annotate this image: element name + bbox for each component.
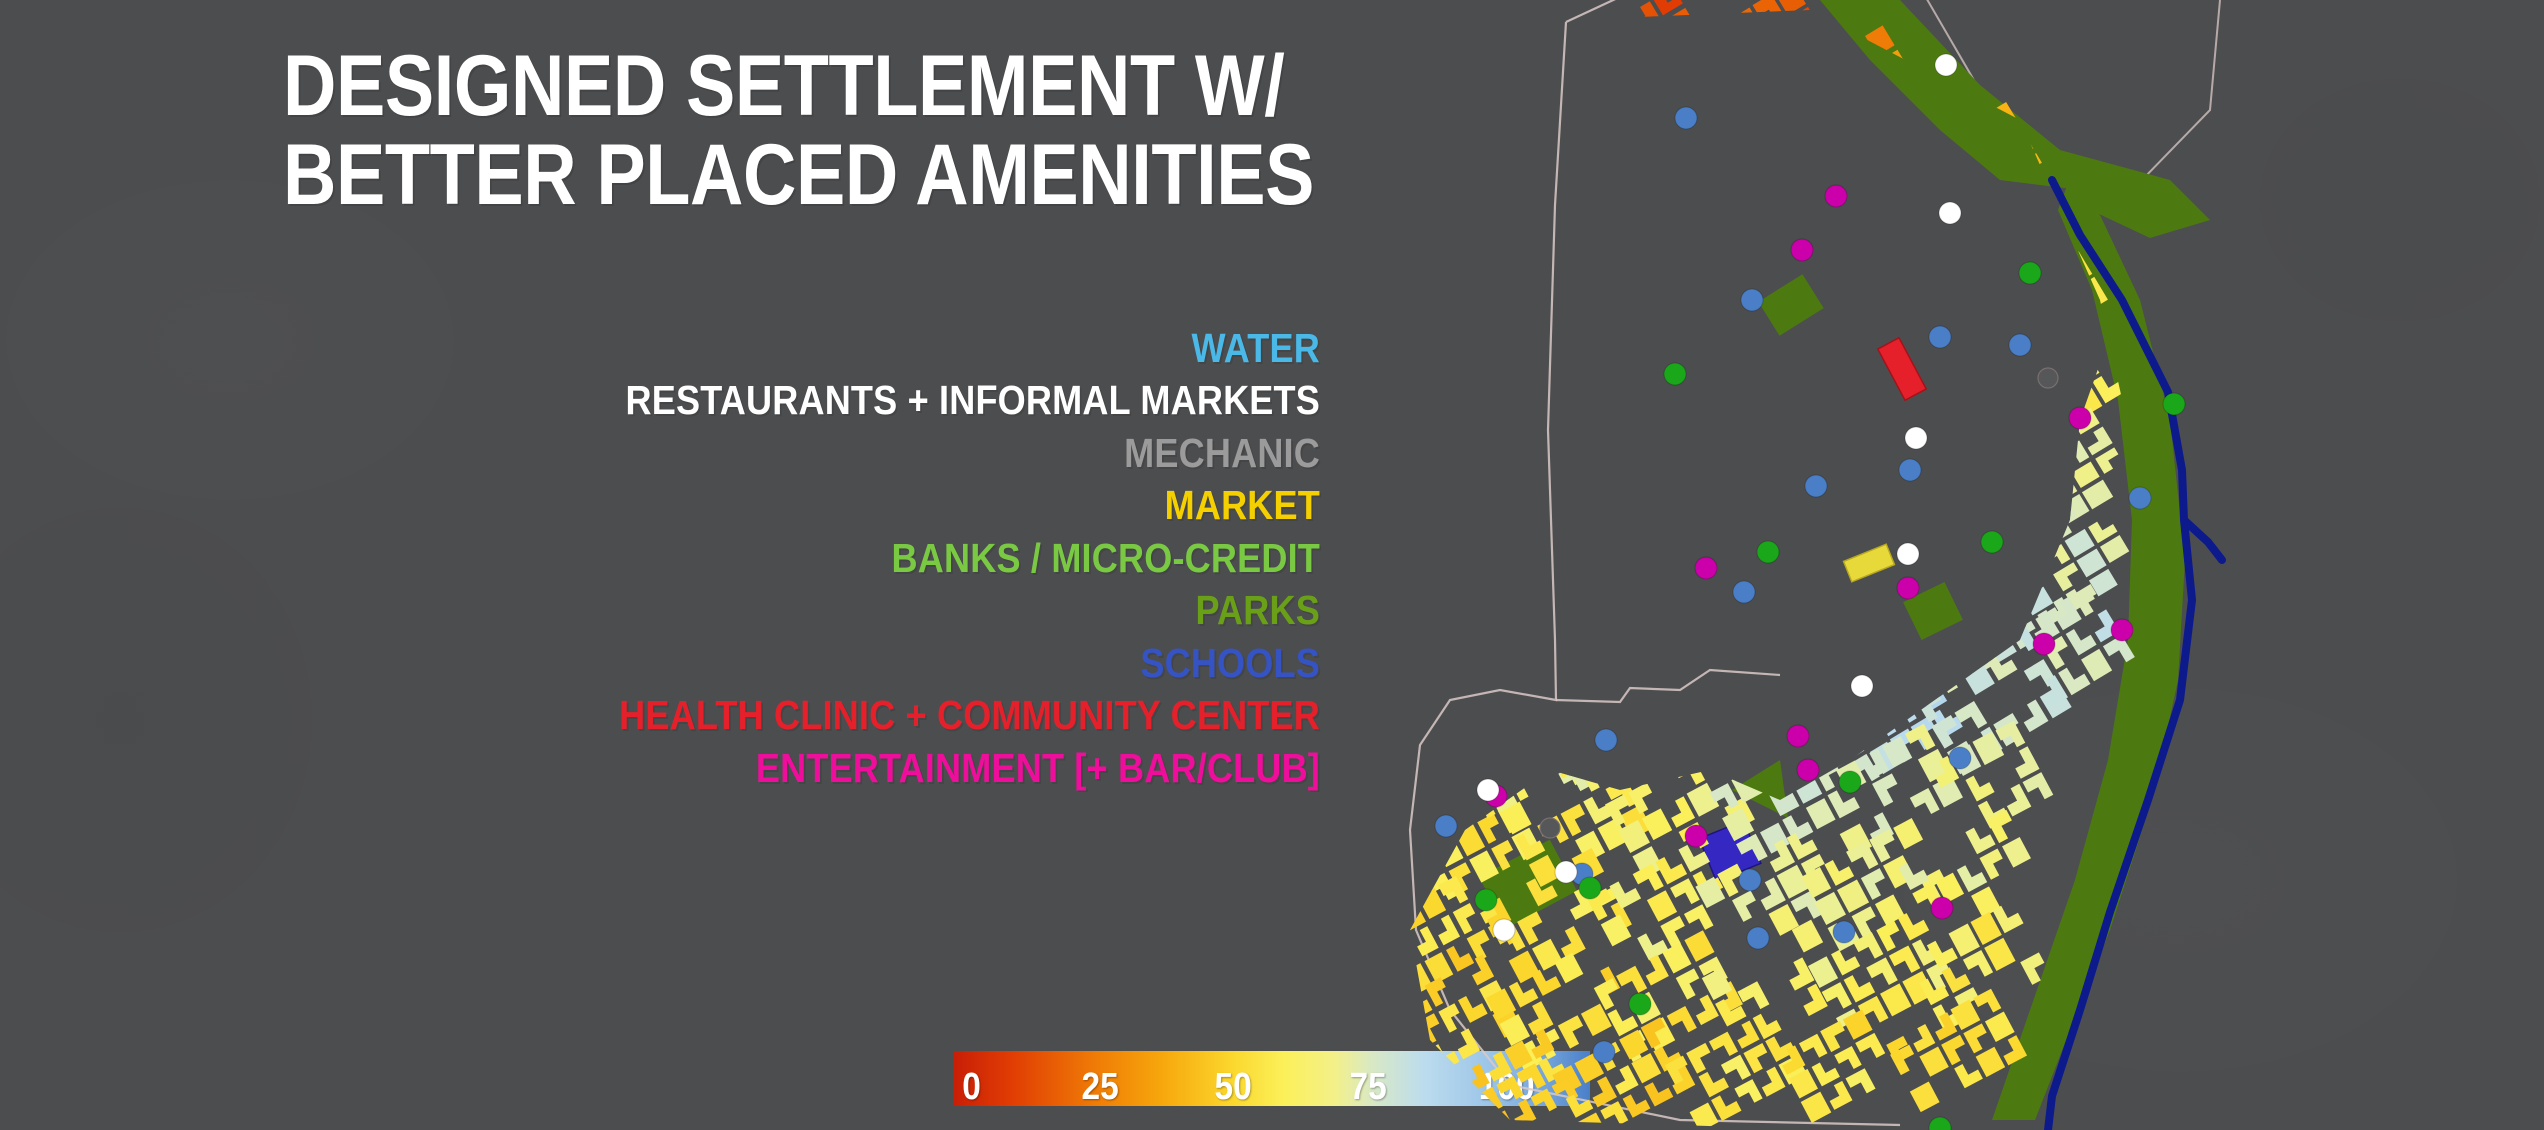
building-footprint bbox=[1674, 643, 1706, 677]
building-block bbox=[1439, 696, 1581, 824]
building-footprint bbox=[1592, 753, 1623, 785]
building-footprint bbox=[1876, 921, 1905, 952]
building-footprint bbox=[1604, 15, 1636, 45]
building-footprint bbox=[1676, 968, 1706, 999]
building-footprint bbox=[1951, 576, 1981, 604]
building-footprint bbox=[1709, 1032, 1738, 1062]
building-footprint bbox=[1746, 159, 1775, 187]
building-footprint bbox=[1723, 172, 1753, 201]
building-footprint bbox=[1839, 210, 1869, 238]
building-footprint bbox=[1746, 338, 1775, 367]
amenity-marker[interactable] bbox=[1579, 877, 1601, 899]
building-footprint bbox=[1981, 402, 2010, 430]
building-footprint bbox=[1588, 252, 1616, 279]
building-footprint bbox=[1872, 773, 1904, 806]
amenity-marker[interactable] bbox=[1733, 581, 1755, 603]
building-footprint bbox=[1806, 798, 1836, 829]
building-footprint bbox=[1611, 702, 1641, 734]
building-footprint bbox=[1539, 515, 1568, 543]
building-footprint bbox=[1553, 699, 1583, 731]
building-footprint bbox=[1653, 41, 1683, 69]
amenity-marker[interactable] bbox=[1787, 725, 1809, 747]
building-footprint bbox=[1863, 230, 1890, 256]
building-footprint bbox=[2017, 699, 2049, 732]
legend-item-market[interactable]: MARKET bbox=[422, 479, 1320, 531]
amenity-marker[interactable] bbox=[1493, 919, 1515, 941]
building-footprint bbox=[1621, 541, 1651, 569]
building-footprint bbox=[1576, 262, 1608, 292]
building-footprint bbox=[1646, 317, 1674, 345]
amenity-marker[interactable] bbox=[1695, 557, 1717, 579]
building-footprint bbox=[2005, 387, 2036, 416]
building-footprint bbox=[1648, 416, 1677, 444]
amenity-marker[interactable] bbox=[1805, 475, 1827, 497]
building-footprint bbox=[1734, 254, 1762, 281]
building-footprint bbox=[1570, 65, 1599, 92]
building-footprint bbox=[1828, 626, 1855, 652]
building-footprint bbox=[1625, 289, 1655, 317]
building-footprint bbox=[1389, 937, 1418, 968]
building-footprint bbox=[1880, 405, 1907, 432]
building-footprint bbox=[1799, 1034, 1828, 1063]
building-footprint bbox=[1642, 808, 1672, 840]
building-footprint bbox=[1647, 477, 1677, 506]
building-footprint bbox=[1598, 692, 1627, 719]
building-footprint bbox=[1874, 249, 1902, 277]
building-footprint bbox=[1735, 319, 1762, 346]
building-footprint bbox=[1454, 1098, 1481, 1126]
building-footprint bbox=[1679, 617, 1707, 644]
amenity-marker[interactable] bbox=[1899, 459, 1921, 481]
amenity-marker[interactable] bbox=[1593, 1041, 1615, 1063]
building-footprint bbox=[1783, 957, 1815, 990]
building-block bbox=[1779, 107, 1941, 253]
amenity-marker[interactable] bbox=[1931, 897, 1953, 919]
building-footprint bbox=[1792, 630, 1824, 664]
building-footprint bbox=[1381, 998, 1411, 1031]
building-footprint bbox=[1641, 22, 1671, 50]
building-footprint bbox=[1612, 527, 1642, 556]
building-footprint bbox=[1946, 541, 1978, 571]
building-footprint bbox=[1758, 73, 1785, 99]
building-footprint bbox=[1972, 268, 2006, 303]
building-footprint bbox=[2030, 518, 2061, 547]
building-footprint bbox=[1875, 703, 1906, 736]
amenity-marker[interactable] bbox=[1825, 185, 1847, 207]
building-footprint bbox=[1700, 640, 1728, 667]
amenity-marker[interactable] bbox=[1981, 531, 2003, 553]
building-footprint bbox=[2095, 447, 2123, 474]
building-footprint bbox=[1796, 670, 1824, 697]
building-footprint bbox=[1726, 713, 1756, 745]
building-block bbox=[2007, 495, 2141, 624]
amenity-marker[interactable] bbox=[1929, 1117, 1951, 1130]
building-footprint bbox=[1990, 360, 2025, 396]
building-footprint bbox=[1596, 610, 1627, 640]
building-footprint bbox=[1934, 293, 1967, 327]
amenity-marker[interactable] bbox=[1897, 577, 1919, 599]
building-footprint bbox=[1606, 343, 1638, 373]
building-footprint bbox=[1600, 303, 1632, 333]
building-footprint bbox=[1674, 582, 1702, 609]
building-block bbox=[1614, 592, 1765, 727]
building-footprint bbox=[2066, 623, 2097, 655]
building-block bbox=[1627, 364, 1798, 516]
building-block bbox=[1638, 458, 1810, 610]
amenity-marker[interactable] bbox=[1475, 889, 1497, 911]
building-footprint bbox=[1619, 206, 1646, 233]
amenity-marker[interactable] bbox=[1905, 427, 1927, 449]
building-footprint bbox=[1652, 274, 1682, 303]
building-footprint bbox=[1859, 580, 1885, 606]
building-footprint bbox=[1550, 168, 1579, 196]
building-footprint bbox=[1630, 225, 1659, 254]
building-footprint bbox=[1807, 515, 1836, 543]
building-footprint bbox=[1985, 1011, 2015, 1041]
building-footprint bbox=[1826, 411, 1853, 437]
legend-item-schools[interactable]: SCHOOLS bbox=[422, 637, 1320, 689]
building-footprint bbox=[1928, 140, 1957, 171]
building-footprint bbox=[1627, 430, 1653, 456]
building-footprint bbox=[1723, 119, 1752, 147]
amenity-marker[interactable] bbox=[2111, 619, 2133, 641]
building-footprint bbox=[1632, 645, 1661, 673]
building-footprint bbox=[1595, 434, 1626, 464]
building-footprint bbox=[2030, 524, 2058, 551]
building-footprint bbox=[1608, 658, 1638, 687]
building-footprint bbox=[1640, 254, 1670, 283]
building-footprint bbox=[1663, 489, 1689, 515]
amenity-marker[interactable] bbox=[2069, 407, 2091, 429]
amenity-marker[interactable] bbox=[1949, 747, 1971, 769]
building-footprint bbox=[1770, 643, 1800, 674]
amenity-legend: WATER RESTAURANTS + INFORMAL MARKETS MEC… bbox=[300, 322, 1320, 794]
building-footprint bbox=[1638, 522, 1667, 550]
building-footprint bbox=[1666, 180, 1695, 208]
building-footprint bbox=[1410, 1051, 1438, 1081]
building-footprint bbox=[1686, 1043, 1716, 1074]
building-footprint bbox=[1411, 926, 1439, 956]
amenity-marker[interactable] bbox=[1540, 818, 1560, 838]
building-footprint bbox=[1762, 58, 1795, 92]
legend-item-parks[interactable]: PARKS bbox=[422, 584, 1320, 636]
building-footprint bbox=[2011, 567, 2042, 596]
building-footprint bbox=[1477, 814, 1505, 844]
building-footprint bbox=[1609, 238, 1638, 266]
building-footprint bbox=[1544, 737, 1575, 770]
building-footprint bbox=[1597, 676, 1627, 708]
building-footprint bbox=[1921, 465, 1950, 493]
amenity-marker[interactable] bbox=[1747, 927, 1769, 949]
building-footprint bbox=[1530, 1088, 1557, 1116]
building-block bbox=[1504, 247, 1668, 397]
building-footprint bbox=[1757, 404, 1786, 432]
building-footprint bbox=[1795, 619, 1822, 645]
amenity-marker[interactable] bbox=[1897, 543, 1919, 565]
amenity-marker[interactable] bbox=[1757, 541, 1779, 563]
building-footprint bbox=[1801, 414, 1827, 440]
building-footprint bbox=[1619, 1030, 1648, 1060]
building-footprint bbox=[1979, 849, 2009, 880]
building-footprint bbox=[1573, 570, 1602, 598]
building-footprint bbox=[1910, 788, 1940, 819]
building-footprint bbox=[1820, 535, 1847, 561]
amenity-marker[interactable] bbox=[1741, 289, 1763, 311]
amenity-marker[interactable] bbox=[2019, 262, 2041, 284]
building-footprint bbox=[1724, 397, 1753, 425]
building-footprint bbox=[1927, 229, 1958, 261]
building-footprint bbox=[1496, 1076, 1523, 1104]
building-footprint bbox=[1698, 97, 1730, 131]
amenity-marker[interactable] bbox=[2038, 368, 2058, 388]
building-footprint bbox=[1974, 615, 2005, 644]
colorbar-tick-0: 0 bbox=[962, 1066, 981, 1109]
amenity-marker[interactable] bbox=[2009, 334, 2031, 356]
building-footprint bbox=[1432, 915, 1460, 946]
building-footprint bbox=[1697, 631, 1728, 664]
building-footprint bbox=[1721, 627, 1749, 655]
building-footprint bbox=[2002, 837, 2031, 868]
building-footprint bbox=[1720, 232, 1751, 262]
building-footprint bbox=[1815, 617, 1847, 651]
building-footprint bbox=[1662, 562, 1690, 589]
building-footprint bbox=[1446, 941, 1474, 972]
amenity-marker[interactable] bbox=[2129, 487, 2151, 509]
amenity-marker[interactable] bbox=[1664, 363, 1686, 385]
building-footprint bbox=[2043, 544, 2071, 570]
building-footprint bbox=[1811, 89, 1844, 123]
building-block bbox=[1905, 900, 2051, 1031]
building-footprint bbox=[1606, 71, 1635, 98]
building-footprint bbox=[1527, 129, 1554, 156]
building-footprint bbox=[1593, 50, 1624, 79]
building-footprint bbox=[1803, 204, 1833, 233]
building-footprint bbox=[1834, 1046, 1861, 1074]
building-footprint bbox=[1380, 910, 1404, 941]
building-footprint bbox=[1691, 391, 1718, 417]
building-footprint bbox=[1703, 410, 1731, 437]
building-footprint bbox=[1769, 145, 1799, 174]
amenity-marker[interactable] bbox=[1797, 759, 1819, 781]
building-footprint bbox=[1746, 654, 1777, 687]
building-footprint bbox=[1732, 1020, 1760, 1048]
building-footprint bbox=[1588, 541, 1618, 570]
building-footprint bbox=[1988, 582, 2017, 609]
amenity-marker[interactable] bbox=[1555, 861, 1577, 883]
building-footprint bbox=[1904, 242, 1936, 275]
building-footprint bbox=[1816, 444, 1842, 469]
building-footprint bbox=[1591, 91, 1618, 118]
building-footprint bbox=[1993, 421, 2024, 450]
building-footprint bbox=[1538, 722, 1567, 753]
building-footprint bbox=[1732, 675, 1761, 706]
building-footprint bbox=[1453, 903, 1482, 934]
amenity-marker[interactable] bbox=[1435, 815, 1457, 837]
building-footprint bbox=[1872, 477, 1900, 504]
building-footprint bbox=[2005, 385, 2040, 421]
building-footprint bbox=[1691, 673, 1718, 699]
building-footprint bbox=[1584, 197, 1613, 226]
building-footprint bbox=[1704, 58, 1736, 92]
building-footprint bbox=[2076, 343, 2111, 379]
building-footprint bbox=[1581, 31, 1611, 59]
building-footprint bbox=[1633, 64, 1662, 92]
building-block bbox=[1800, 817, 1951, 951]
building-footprint bbox=[1709, 213, 1738, 241]
building-footprint bbox=[1690, 1102, 1719, 1130]
building-block bbox=[1507, 151, 1680, 306]
legend-item-banks[interactable]: BANKS / MICRO-CREDIT bbox=[422, 532, 1320, 584]
building-footprint bbox=[1637, 310, 1667, 339]
building-footprint bbox=[1644, 665, 1671, 691]
building-footprint bbox=[1587, 485, 1618, 514]
legend-item-water[interactable]: WATER bbox=[422, 322, 1320, 374]
building-footprint bbox=[1970, 201, 2004, 236]
building-footprint bbox=[1747, 33, 1779, 66]
building-footprint bbox=[1999, 602, 2028, 629]
building-footprint bbox=[1629, 56, 1659, 84]
colorbar-tick-50: 50 bbox=[1215, 1066, 1252, 1109]
amenity-marker[interactable] bbox=[1739, 869, 1761, 891]
building-footprint bbox=[1969, 381, 2000, 410]
building-footprint bbox=[1825, 622, 1855, 653]
amenity-marker[interactable] bbox=[1791, 239, 1813, 261]
building-footprint bbox=[1837, 431, 1864, 457]
building-footprint bbox=[1623, 492, 1653, 521]
building-footprint bbox=[1670, 878, 1700, 909]
building-footprint bbox=[1732, 8, 1763, 41]
building-footprint bbox=[1732, 890, 1762, 921]
building-footprint bbox=[1864, 196, 1892, 223]
building-footprint bbox=[1690, 689, 1720, 718]
building-footprint bbox=[2006, 532, 2038, 562]
building-footprint bbox=[1625, 331, 1651, 357]
building-footprint bbox=[1510, 401, 1541, 431]
amenity-marker[interactable] bbox=[1939, 202, 1961, 224]
building-footprint bbox=[1968, 344, 1996, 371]
building-footprint bbox=[1851, 356, 1878, 383]
building-footprint bbox=[1633, 561, 1663, 590]
legend-item-entertainment[interactable]: ENTERTAINMENT [+ BAR/CLUB] bbox=[422, 742, 1320, 794]
building-footprint bbox=[1862, 636, 1892, 668]
amenity-marker[interactable] bbox=[1851, 675, 1873, 697]
building-footprint bbox=[1944, 625, 1976, 659]
building-footprint bbox=[1756, 239, 1786, 268]
settlement-map[interactable] bbox=[1380, 0, 2544, 1130]
amenity-marker[interactable] bbox=[1839, 771, 1861, 793]
building-footprint bbox=[1943, 165, 1972, 196]
building-footprint bbox=[1896, 517, 1922, 542]
amenity-marker[interactable] bbox=[2163, 393, 2185, 415]
amenity-marker[interactable] bbox=[1675, 107, 1697, 129]
building-footprint bbox=[1609, 631, 1640, 660]
building-footprint bbox=[1743, 614, 1771, 641]
building-footprint bbox=[1678, 147, 1706, 174]
building-footprint bbox=[1757, 478, 1786, 506]
building-block bbox=[1510, 343, 1675, 493]
building-footprint bbox=[2000, 548, 2029, 575]
building-footprint bbox=[1766, 205, 1796, 234]
building-footprint bbox=[1710, 20, 1741, 53]
building-footprint bbox=[1987, 635, 2017, 663]
building-footprint bbox=[1712, 377, 1741, 405]
amenity-marker[interactable] bbox=[1685, 825, 1707, 847]
building-footprint bbox=[1643, 694, 1675, 727]
amenity-marker[interactable] bbox=[1833, 921, 1855, 943]
amenity-marker[interactable] bbox=[1935, 54, 1957, 76]
building-footprint bbox=[1552, 331, 1584, 362]
building-footprint bbox=[1666, 682, 1697, 715]
building-footprint bbox=[1516, 733, 1546, 764]
building-footprint bbox=[1827, 114, 1858, 146]
building-footprint bbox=[1596, 554, 1627, 583]
building-footprint bbox=[1777, 561, 1804, 587]
building-footprint bbox=[1763, 576, 1796, 611]
building-footprint bbox=[1636, 512, 1666, 541]
building-footprint bbox=[1818, 657, 1846, 684]
building-footprint bbox=[1714, 504, 1743, 532]
building-footprint bbox=[1482, 720, 1510, 750]
building-footprint bbox=[1713, 332, 1741, 359]
building-footprint bbox=[1625, 728, 1656, 761]
building-footprint bbox=[1754, 633, 1782, 660]
building-footprint bbox=[1943, 256, 1973, 288]
building-footprint bbox=[1700, 186, 1730, 215]
building-footprint bbox=[1861, 632, 1889, 660]
building-footprint bbox=[1880, 665, 1912, 699]
building-footprint bbox=[1541, 366, 1573, 396]
building-footprint bbox=[1755, 615, 1787, 649]
building-footprint bbox=[1747, 700, 1777, 732]
amenity-marker[interactable] bbox=[1595, 729, 1617, 751]
building-footprint bbox=[1665, 127, 1695, 156]
building-footprint bbox=[1916, 679, 1947, 712]
building-footprint bbox=[1868, 292, 1896, 319]
building-footprint bbox=[1634, 617, 1664, 646]
amenity-marker[interactable] bbox=[1629, 993, 1651, 1015]
building-footprint bbox=[2027, 305, 2061, 340]
amenity-marker[interactable] bbox=[1477, 779, 1499, 801]
amenity-marker[interactable] bbox=[2033, 633, 2055, 655]
building-footprint bbox=[1681, 423, 1710, 451]
building-footprint bbox=[1950, 629, 1981, 659]
legend-item-mechanic[interactable]: MECHANIC bbox=[422, 427, 1320, 479]
building-footprint bbox=[1933, 484, 1963, 512]
building-footprint bbox=[1571, 104, 1597, 129]
building-footprint bbox=[1551, 479, 1581, 507]
building-footprint bbox=[1560, 603, 1592, 633]
building-footprint bbox=[1677, 601, 1703, 626]
building-footprint bbox=[1861, 470, 1888, 496]
legend-item-restaurants[interactable]: RESTAURANTS + INFORMAL MARKETS bbox=[422, 374, 1320, 426]
building-footprint bbox=[1504, 305, 1534, 334]
building-footprint bbox=[1824, 1081, 1852, 1110]
building-footprint bbox=[1875, 662, 1906, 695]
building-footprint bbox=[1701, 312, 1728, 338]
legend-item-health-clinic[interactable]: HEALTH CLINIC + COMMUNITY CENTER bbox=[422, 689, 1320, 741]
building-footprint bbox=[1921, 638, 1952, 671]
building-footprint bbox=[1689, 621, 1715, 646]
building-footprint bbox=[1797, 608, 1825, 635]
building-footprint bbox=[2036, 456, 2065, 483]
building-footprint bbox=[1627, 150, 1653, 176]
amenity-marker[interactable] bbox=[1929, 326, 1951, 348]
building-footprint bbox=[1825, 689, 1854, 720]
building-footprint bbox=[1582, 123, 1610, 150]
building-footprint bbox=[1551, 534, 1582, 564]
building-footprint bbox=[1849, 450, 1877, 477]
building-footprint bbox=[1636, 350, 1665, 378]
